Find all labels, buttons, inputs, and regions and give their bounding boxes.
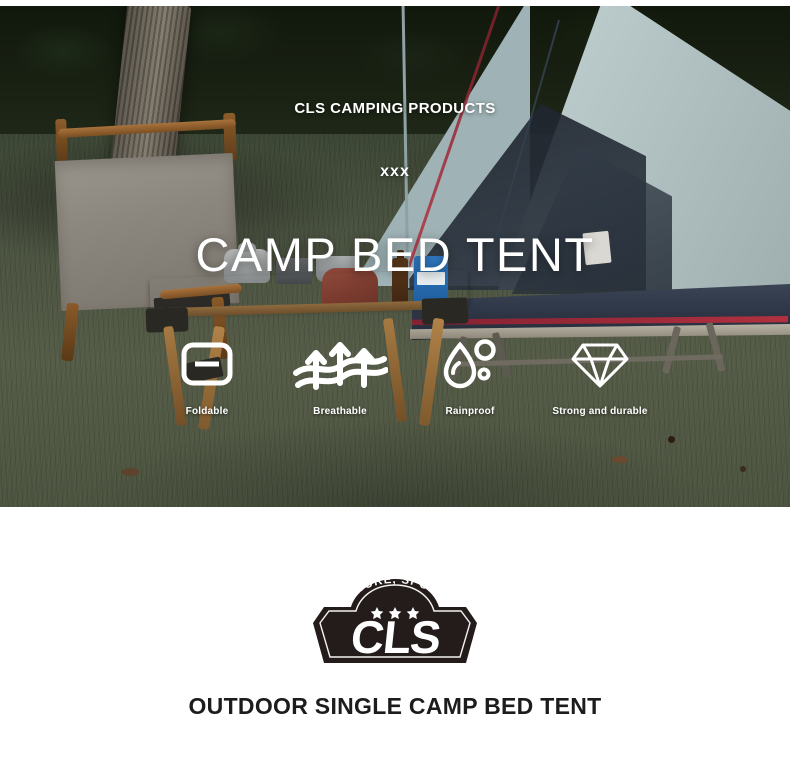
feature-label: Foldable — [137, 406, 277, 418]
logo-wordmark: CLS — [348, 611, 442, 663]
cls-brand-logo: LEISURE, SPORTS CLS — [311, 577, 479, 669]
diamond-icon — [530, 336, 670, 392]
feature-strong-durable: Strong and durable — [530, 336, 670, 418]
brand-section: LEISURE, SPORTS CLS OUTDOOR SINGLE CAMP … — [0, 507, 790, 759]
feature-label: Breathable — [270, 406, 410, 418]
feature-foldable: Foldable — [137, 336, 277, 418]
hero-model-code: xxx — [0, 163, 790, 181]
foldable-icon — [137, 336, 277, 392]
brand-logo-wrapper: LEISURE, SPORTS CLS — [0, 577, 790, 669]
feature-label: Strong and durable — [530, 406, 670, 418]
rainproof-icon — [400, 336, 540, 392]
feature-row: Foldable Breathable — [140, 336, 670, 446]
feature-breathable: Breathable — [270, 336, 410, 418]
feature-rainproof: Rainproof — [400, 336, 540, 418]
hero-eyebrow: CLS CAMPING PRODUCTS — [0, 100, 790, 117]
hero-banner: CLS CAMPING PRODUCTS xxx CAMP BED TENT F… — [0, 6, 790, 507]
breathable-icon — [270, 336, 410, 392]
top-white-gutter — [0, 0, 790, 6]
hero-text-overlay: CLS CAMPING PRODUCTS xxx CAMP BED TENT F… — [0, 6, 790, 507]
feature-label: Rainproof — [400, 406, 540, 418]
product-detail-page: CLS CAMPING PRODUCTS xxx CAMP BED TENT F… — [0, 0, 790, 759]
hero-title: CAMP BED TENT — [0, 227, 790, 282]
product-heading: OUTDOOR SINGLE CAMP BED TENT — [0, 693, 790, 720]
